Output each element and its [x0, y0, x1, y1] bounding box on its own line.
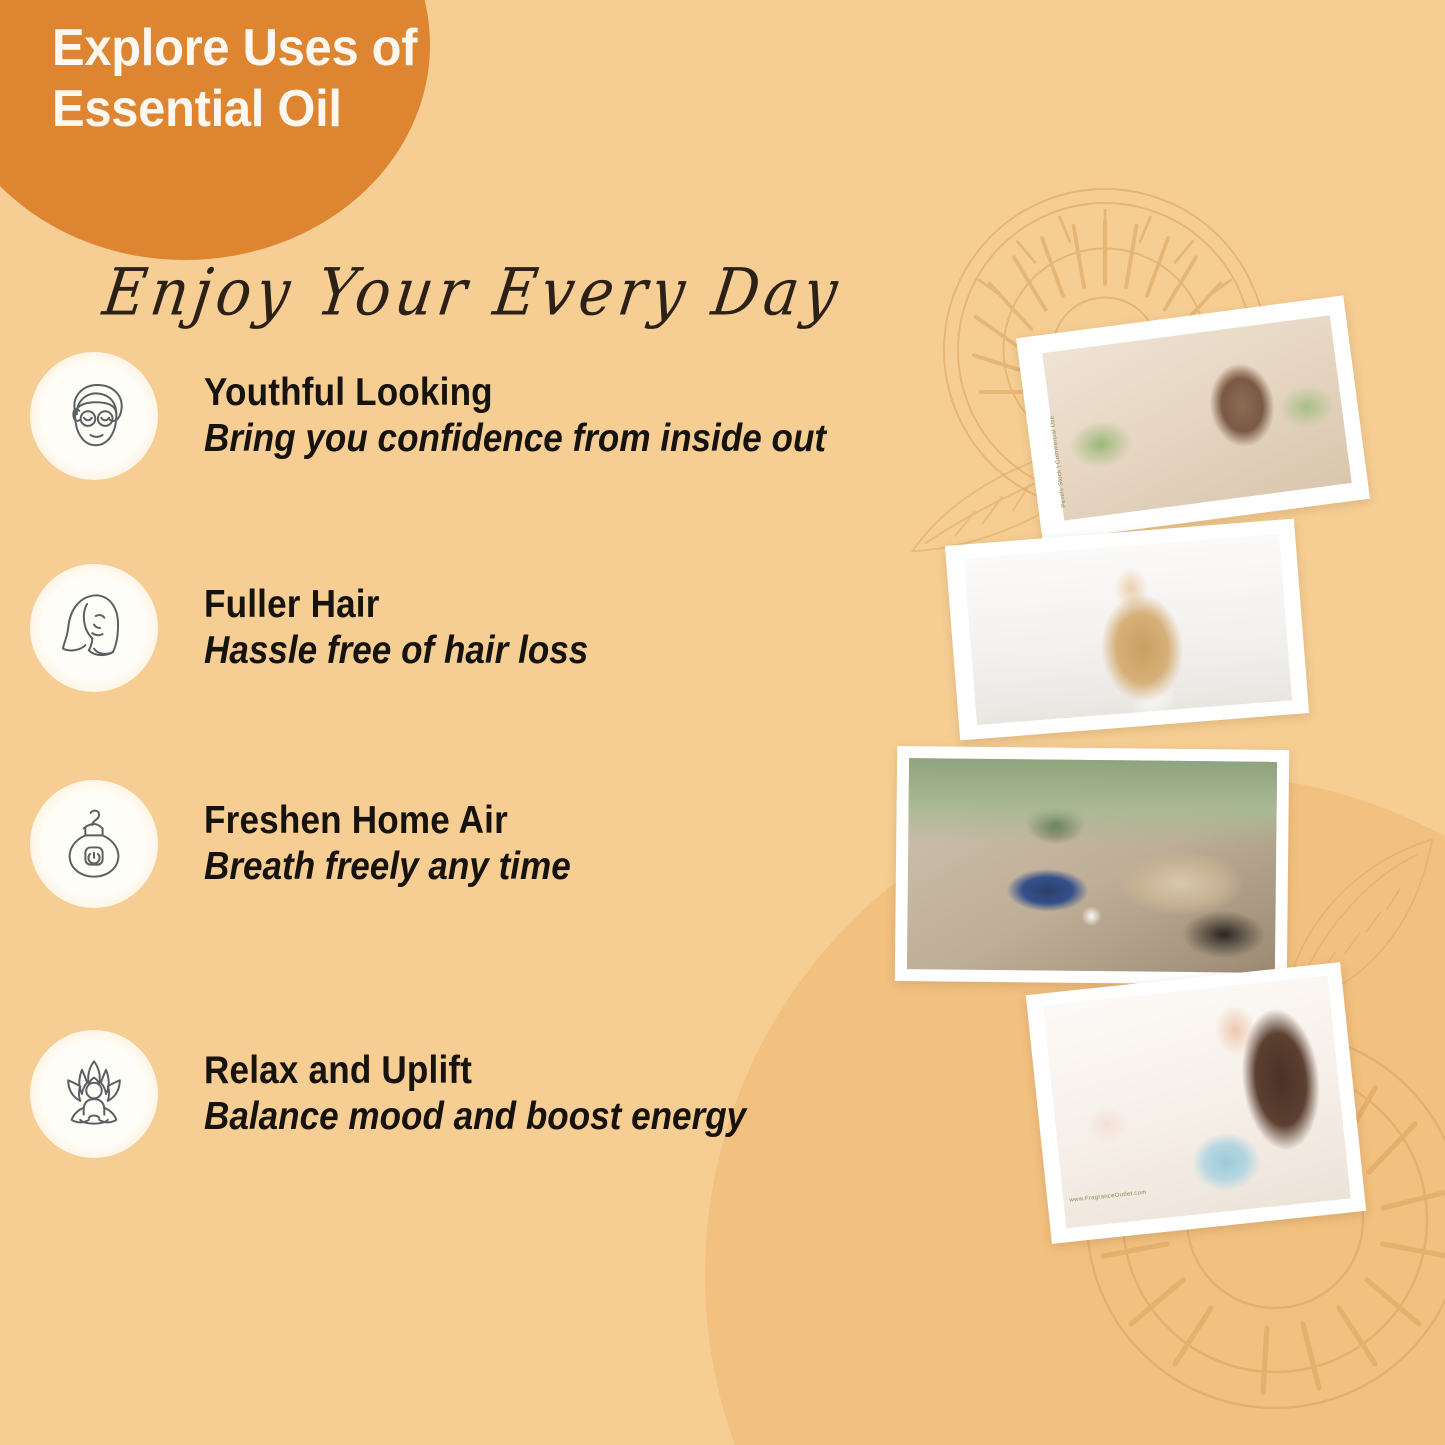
photo-smiling-woman: Pexels Stock | Commercial Use	[1016, 295, 1370, 541]
feature-text: Fuller Hair Hassle free of hair loss	[178, 583, 631, 674]
face-mask-icon	[30, 352, 158, 480]
photo-image	[907, 758, 1277, 973]
feature-subtitle: Balance mood and boost energy	[204, 1094, 746, 1139]
feature-subtitle: Hassle free of hair loss	[204, 628, 588, 673]
oil-diffuser-icon	[30, 780, 158, 908]
tagline: Enjoy Your Every Day	[99, 254, 847, 330]
page-title-line-2: Essential Oil	[52, 79, 560, 140]
photo-wavy-blonde-hair	[945, 519, 1309, 741]
feature-title: Fuller Hair	[204, 583, 588, 627]
feature-subtitle: Bring you confidence from inside out	[204, 416, 826, 461]
page-title: Explore Uses of Essential Oil	[52, 18, 560, 141]
photo-woman-perfume: www.FragranceOutlet.com	[1026, 962, 1366, 1244]
photo-boho-living-room	[895, 746, 1289, 985]
photo-image	[1043, 976, 1351, 1229]
feature-subtitle: Breath freely any time	[204, 844, 571, 889]
feature-title: Relax and Uplift	[204, 1049, 746, 1093]
feature-title: Freshen Home Air	[204, 799, 571, 843]
feature-row: Relax and Uplift Balance mood and boost …	[30, 1030, 806, 1158]
lotus-meditation-icon	[30, 1030, 158, 1158]
photo-image	[1042, 315, 1352, 520]
feature-row: Freshen Home Air Breath freely any time	[30, 780, 612, 908]
feature-title: Youthful Looking	[204, 371, 826, 415]
page-title-line-1: Explore Uses of	[52, 18, 560, 79]
feature-row: Fuller Hair Hassle free of hair loss	[30, 564, 631, 692]
feature-text: Freshen Home Air Breath freely any time	[178, 799, 612, 890]
feature-text: Youthful Looking Bring you confidence fr…	[178, 371, 895, 462]
long-hair-profile-icon	[30, 564, 158, 692]
photo-image	[964, 534, 1292, 725]
poster-canvas: Explore Uses of Essential Oil Enjoy Your…	[0, 0, 1445, 1445]
feature-row: Youthful Looking Bring you confidence fr…	[30, 352, 895, 480]
feature-text: Relax and Uplift Balance mood and boost …	[178, 1049, 806, 1140]
